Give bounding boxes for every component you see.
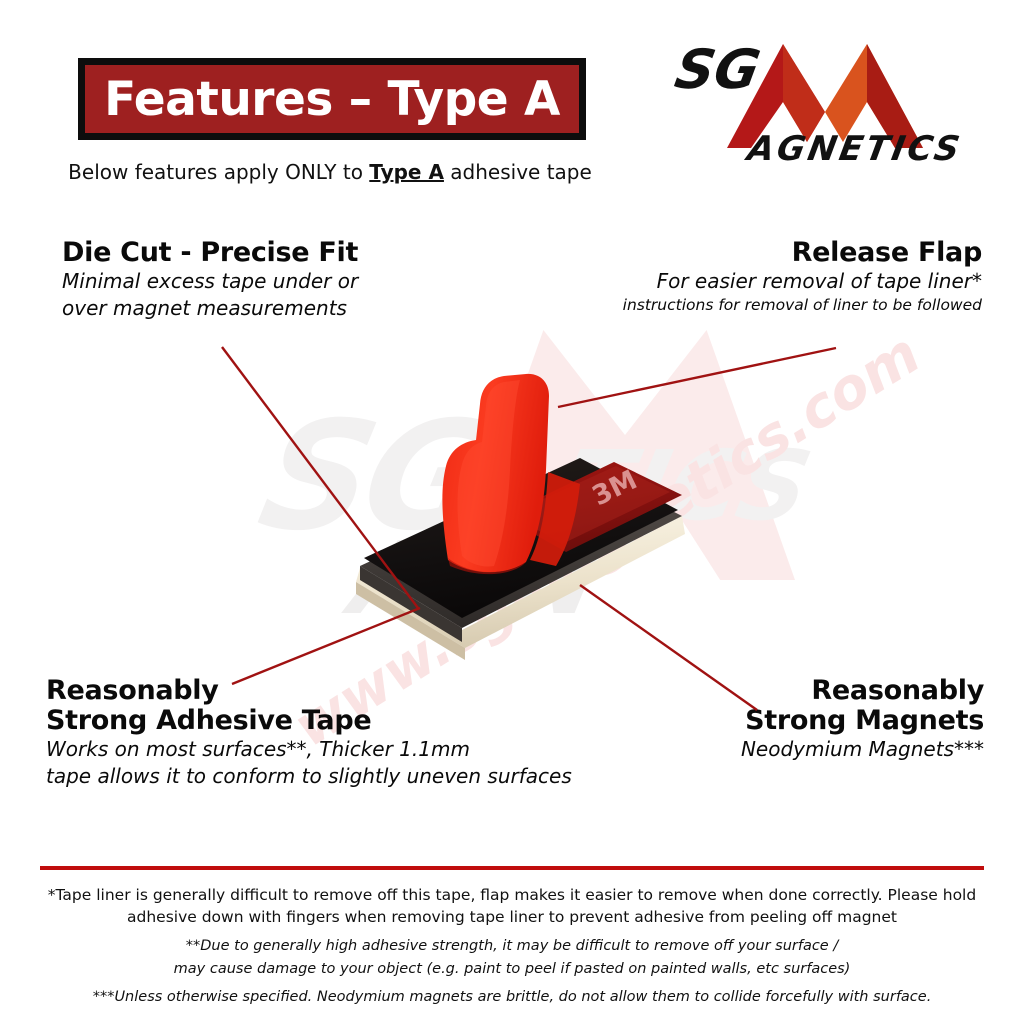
feature-magnets-heading-2: Strong Magnets [741,706,984,736]
footnote-2-line-2: may cause damage to your object (e.g. pa… [30,959,994,980]
feature-magnets-heading-1: Reasonably [741,676,984,706]
footnote-1: *Tape liner is generally difficult to re… [30,884,994,929]
feature-release-flap-line-1: For easier removal of tape liner* [623,268,982,294]
feature-release-flap-note: instructions for removal of liner to be … [623,295,982,315]
subtitle-after: adhesive tape [444,160,592,184]
feature-die-cut-line-1: Minimal excess tape under or [62,268,358,294]
page-title-banner: Features – Type A [78,58,586,140]
svg-text:AGNETICS: AGNETICS [742,129,966,169]
brand-logo: SG AGNETICS [665,30,985,170]
feature-die-cut-heading: Die Cut - Precise Fit [62,238,358,268]
logo-sg-text: SG [670,37,764,101]
footnote-2-line-1: **Due to generally high adhesive strengt… [30,936,994,957]
footer-divider [40,866,984,870]
subtitle-emphasis: Type A [369,160,444,184]
feature-adhesive-tape-line-2: tape allows it to conform to slightly un… [46,763,572,789]
feature-adhesive-tape: Reasonably Strong Adhesive Tape Works on… [46,676,572,789]
feature-die-cut: Die Cut - Precise Fit Minimal excess tap… [62,238,358,321]
page-title: Features – Type A [104,76,560,123]
feature-adhesive-tape-heading-1: Reasonably [46,676,572,706]
page-subtitle: Below features apply ONLY to Type A adhe… [0,160,660,184]
feature-magnets-line-1: Neodymium Magnets*** [741,736,984,762]
footnotes: *Tape liner is generally difficult to re… [30,884,994,1008]
feature-adhesive-tape-heading-2: Strong Adhesive Tape [46,706,572,736]
subtitle-before: Below features apply ONLY to [68,160,369,184]
feature-release-flap-heading: Release Flap [623,238,982,268]
feature-release-flap: Release Flap For easier removal of tape … [623,238,982,315]
logo-agnetics-text: AGNETICS [742,129,966,169]
product-photo: 3M [330,330,730,700]
feature-die-cut-line-2: over magnet measurements [62,295,358,321]
footnote-3: ***Unless otherwise specified. Neodymium… [30,987,994,1008]
feature-magnets: Reasonably Strong Magnets Neodymium Magn… [741,676,984,763]
svg-text:SG: SG [670,37,764,101]
feature-adhesive-tape-line-1: Works on most surfaces**, Thicker 1.1mm [46,736,572,762]
